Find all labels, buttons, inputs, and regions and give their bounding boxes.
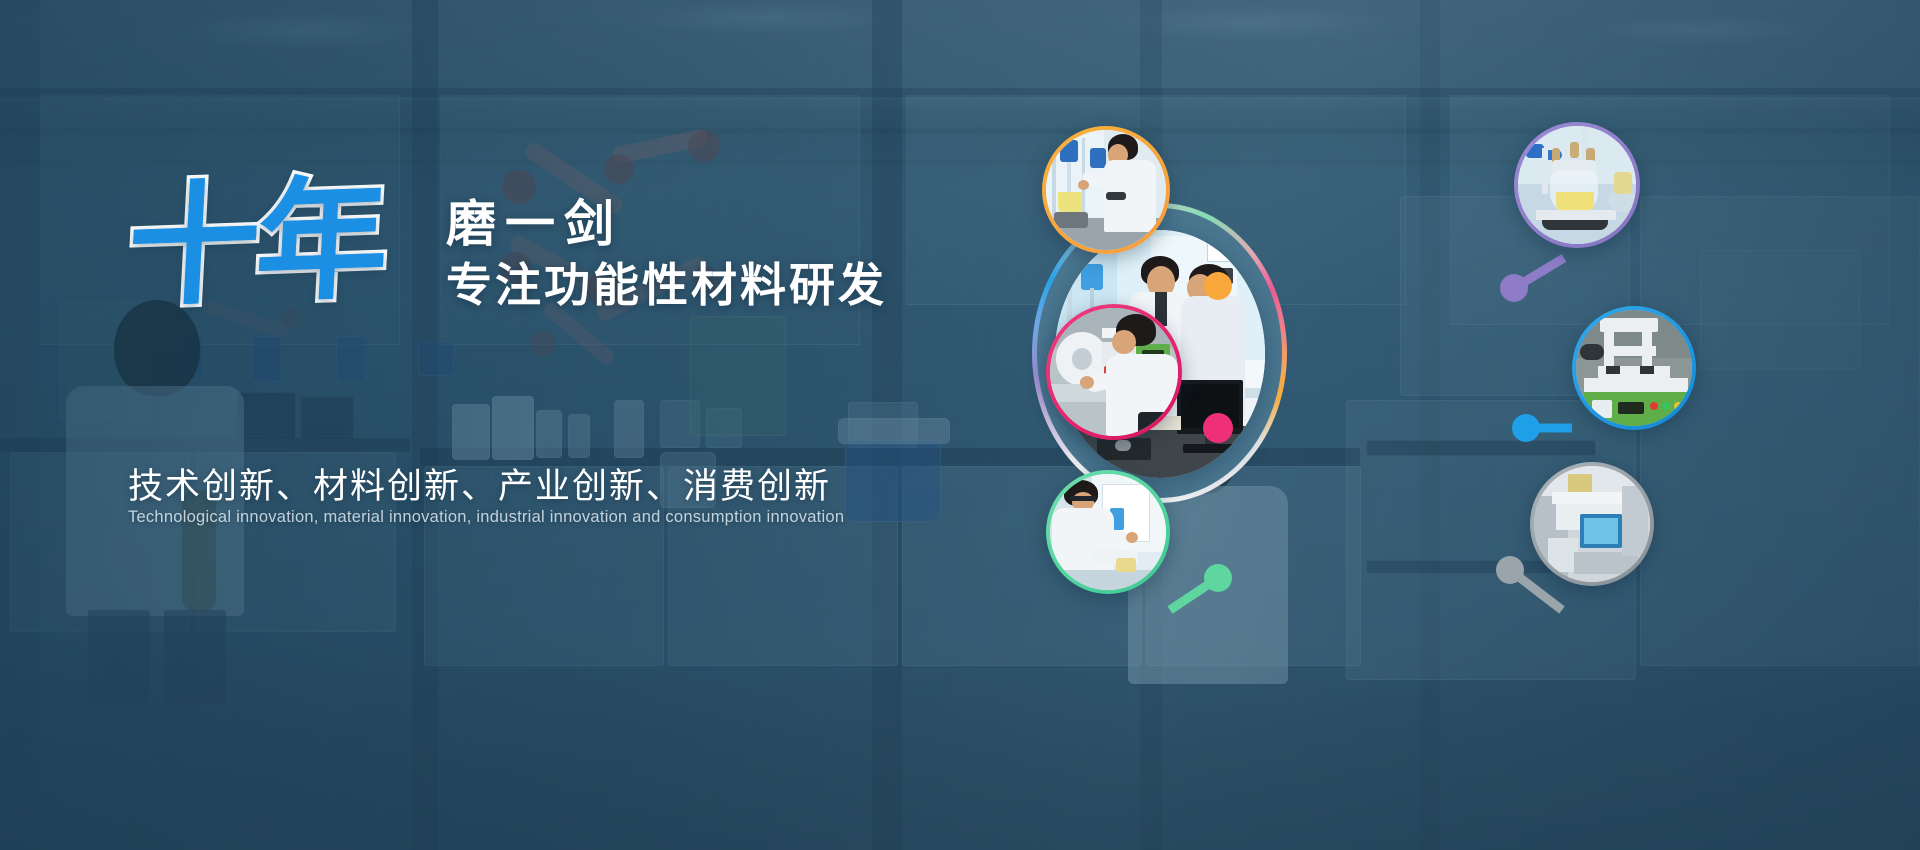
satellite-testing-machine-photo: [1576, 310, 1692, 426]
hero-tagline: 技术创新、材料创新、产业创新、消费创新: [128, 458, 831, 509]
satellite-sample-preparation[interactable]: [1046, 470, 1170, 594]
hero-subline-english: Technological innovation, material innov…: [128, 508, 844, 527]
satellite-flask-reaction-photo: [1518, 126, 1636, 244]
satellite-coating-machine[interactable]: [1046, 304, 1182, 440]
connector-lines: [820, 90, 1920, 650]
satellite-testing-machine[interactable]: [1572, 306, 1696, 430]
headline-row: 十年 十年 磨一剑 专注功能性材料研发: [128, 186, 848, 346]
satellite-coating-machine-photo: [1050, 308, 1178, 436]
satellite-analysis-station[interactable]: [1530, 462, 1654, 586]
satellite-sample-preparation-photo: [1050, 474, 1166, 590]
satellite-reactor-distillation-photo: [1046, 130, 1166, 250]
calligraphy-title-fill: 十年: [124, 174, 388, 315]
satellite-analysis-station-photo: [1534, 466, 1650, 582]
satellite-flask-reaction[interactable]: [1514, 122, 1640, 248]
hero-banner: 十年 十年 磨一剑 专注功能性材料研发 技术创新、材料创新、产业创新、消费创新 …: [0, 0, 1920, 850]
hero-text-block: 十年 十年 磨一剑 专注功能性材料研发 技术创新、材料创新、产业创新、消费创新 …: [128, 186, 848, 346]
circle-composition: [820, 90, 1920, 650]
satellite-reactor-distillation[interactable]: [1042, 126, 1170, 254]
